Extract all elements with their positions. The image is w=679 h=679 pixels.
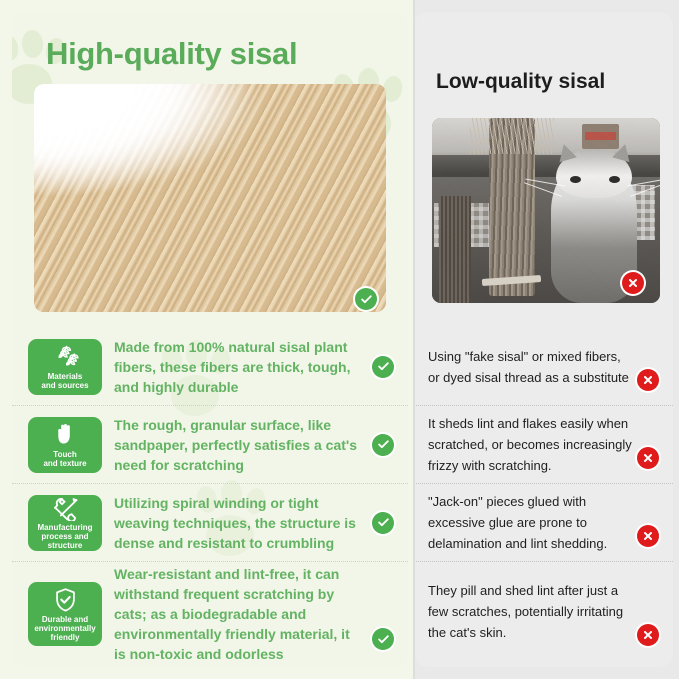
tile-label: Materialsand sources — [40, 372, 89, 390]
low-quality-rows: Using "fake sisal" or mixed fibers, or d… — [414, 328, 673, 666]
row-text: They pill and shed lint after just a few… — [428, 580, 659, 643]
row-text: Wear-resistant and lint-free, it can wit… — [102, 564, 392, 664]
table-row: Manufacturingprocess and structure Utili… — [12, 484, 408, 562]
comparison-infographic: High-quality sisal — [0, 0, 679, 679]
row-text: The rough, granular surface, like sandpa… — [102, 415, 392, 475]
row-status-badge — [370, 432, 396, 458]
tile-label: Manufacturingprocess and structure — [30, 523, 100, 550]
low-quality-panel-inner: Low-quality sisal — [414, 12, 673, 667]
table-row: "Jack-on" pieces glued with excessive gl… — [414, 484, 673, 562]
panel-divider — [413, 0, 415, 679]
sisal-rope-closeup-photo — [34, 84, 386, 312]
check-circle-icon — [372, 628, 394, 650]
row-text: Made from 100% natural sisal plant fiber… — [102, 337, 392, 397]
table-row: They pill and shed lint after just a few… — [414, 562, 673, 666]
check-circle-icon — [372, 512, 394, 534]
high-quality-panel: High-quality sisal — [0, 0, 414, 679]
row-text: It sheds lint and flakes easily when scr… — [428, 413, 659, 476]
row-text: "Jack-on" pieces glued with excessive gl… — [428, 491, 659, 554]
wheat-stalks-icon — [51, 344, 79, 370]
table-row: Durable andenvironmentally friendly Wear… — [12, 562, 408, 666]
x-circle-icon — [637, 447, 659, 469]
durable-eco-friendly-tile: Durable andenvironmentally friendly — [28, 582, 102, 646]
high-quality-panel-inner: High-quality sisal — [12, 12, 408, 667]
materials-and-sources-tile: Materialsand sources — [28, 339, 102, 395]
x-circle-icon — [637, 369, 659, 391]
wrench-screwdriver-icon — [51, 496, 80, 521]
table-row: It sheds lint and flakes easily when scr… — [414, 406, 673, 484]
row-status-badge — [635, 367, 661, 393]
photo-check-badge — [353, 286, 379, 312]
manufacturing-process-tile: Manufacturingprocess and structure — [28, 495, 102, 551]
table-row: Using "fake sisal" or mixed fibers, or d… — [414, 328, 673, 406]
row-status-badge — [370, 626, 396, 652]
table-row: Materialsand sources Made from 100% natu… — [12, 328, 408, 406]
row-status-badge — [635, 445, 661, 471]
row-status-badge — [370, 510, 396, 536]
tile-label: Durable andenvironmentally friendly — [30, 615, 100, 642]
check-circle-icon — [372, 356, 394, 378]
x-circle-icon — [637, 624, 659, 646]
low-quality-panel: Low-quality sisal — [414, 0, 679, 679]
low-quality-title: Low-quality sisal — [436, 70, 605, 94]
sisal-highlight — [34, 84, 386, 312]
x-circle-icon — [637, 525, 659, 547]
high-quality-title: High-quality sisal — [46, 36, 297, 72]
table-row: Touchand texture The rough, granular sur… — [12, 406, 408, 484]
hand-palm-icon — [53, 422, 77, 448]
check-circle-icon — [372, 434, 394, 456]
tile-label: Touchand texture — [42, 450, 87, 468]
row-text: Using "fake sisal" or mixed fibers, or d… — [428, 346, 659, 388]
shield-check-icon — [53, 587, 78, 613]
x-circle-icon — [622, 272, 644, 294]
row-status-badge — [370, 354, 396, 380]
row-status-badge — [635, 622, 661, 648]
high-quality-rows: Materialsand sources Made from 100% natu… — [12, 328, 408, 666]
row-status-badge — [635, 523, 661, 549]
check-circle-icon — [355, 288, 377, 310]
touch-and-texture-tile: Touchand texture — [28, 417, 102, 473]
row-text: Utilizing spiral winding or tight weavin… — [102, 493, 392, 553]
photo-x-badge — [620, 270, 646, 296]
